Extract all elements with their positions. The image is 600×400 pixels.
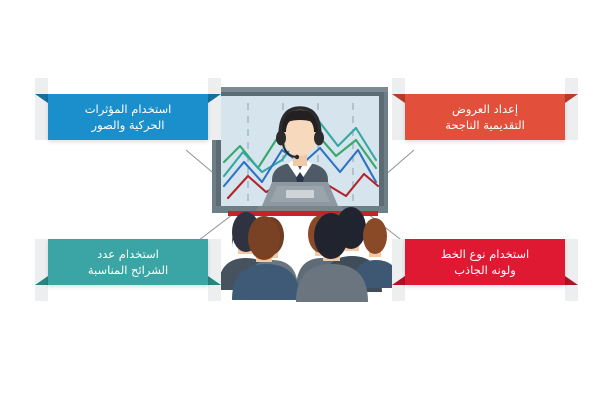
label-successful-presentations[interactable]: إعداد العروض التقديمية الناجحة: [405, 94, 565, 140]
ribbon-tail-right: [565, 78, 578, 140]
ribbon-fold-top-left: [35, 94, 48, 103]
label-body[interactable]: استخدام المؤثرات الحركية والصور: [48, 94, 208, 140]
ribbon-tail-right: [208, 239, 221, 301]
label-line-2: التقديمية الناجحة: [439, 117, 531, 133]
ribbon-fold-bottom-right: [208, 276, 221, 285]
label-line-1: إعداد العروض: [446, 101, 524, 117]
ribbon-tail-left: [392, 239, 405, 301]
label-body[interactable]: استخدام عدد الشرائح المناسبة: [48, 239, 208, 285]
ribbon-tail-left: [35, 239, 48, 301]
ribbon-fold-bottom-left: [35, 276, 48, 285]
label-line-2: ولونه الجاذب: [448, 262, 522, 278]
label-animation-images[interactable]: استخدام المؤثرات الحركية والصور: [48, 94, 208, 140]
label-line-1: استخدام نوع الخط: [435, 246, 535, 262]
ribbon-fold-top-right: [208, 94, 221, 103]
ribbon-tail-right: [208, 78, 221, 140]
label-body[interactable]: استخدام نوع الخط ولونه الجاذب: [405, 239, 565, 285]
ribbon-fold-top-left: [392, 94, 405, 103]
ribbon-fold-bottom-right: [565, 276, 578, 285]
label-slide-count[interactable]: استخدام عدد الشرائح المناسبة: [48, 239, 208, 285]
label-line-1: استخدام المؤثرات: [79, 101, 178, 117]
ribbon-tail-right: [565, 239, 578, 301]
ribbon-tail-left: [35, 78, 48, 140]
label-line-1: استخدام عدد: [91, 246, 165, 262]
label-line-2: الشرائح المناسبة: [82, 262, 174, 278]
label-font-type-color[interactable]: استخدام نوع الخط ولونه الجاذب: [405, 239, 565, 285]
ribbon-fold-bottom-left: [392, 276, 405, 285]
infographic-canvas: استخدام المؤثرات الحركية والصور إعداد ال…: [0, 0, 600, 400]
presentation-illustration: [0, 0, 600, 400]
label-body[interactable]: إعداد العروض التقديمية الناجحة: [405, 94, 565, 140]
label-line-2: الحركية والصور: [86, 117, 171, 133]
ribbon-tail-left: [392, 78, 405, 140]
ribbon-fold-top-right: [565, 94, 578, 103]
